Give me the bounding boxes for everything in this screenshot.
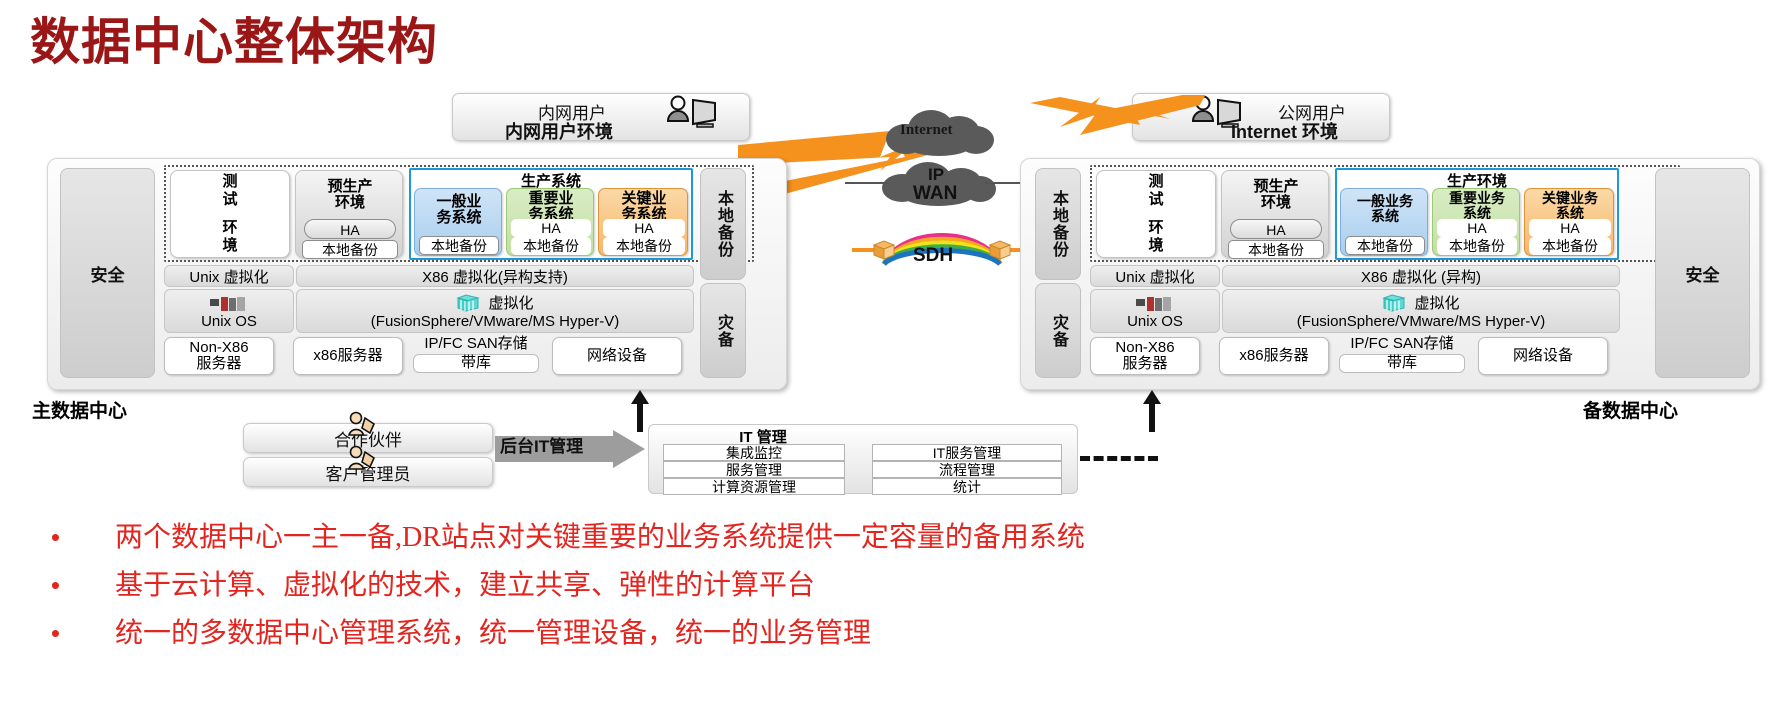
bullet-marker: • [0, 568, 60, 602]
backup-system-important-ha: HA [1437, 219, 1517, 237]
backup-virt-label: 虚拟化 [1414, 292, 1459, 313]
primary-system-critical-backup: 本地备份 [603, 237, 685, 255]
primary-system-critical: 关键业 务系统 HA 本地备份 [598, 188, 688, 256]
backup-system-critical-label-1: 关键业务 [1525, 191, 1615, 206]
primary-hw-storage-line2: 带库 [413, 354, 539, 373]
backup-hw-storage-line2: 带库 [1339, 354, 1465, 373]
user-monitor-icon [663, 95, 725, 129]
management-up-arrow-left [630, 390, 650, 432]
router-icon [872, 238, 896, 262]
bullet-item: • 两个数据中心一主一备,DR站点对关键重要的业务系统提供一定容量的备用系统 [0, 520, 1785, 556]
internal-user-box: 内网用户 内网用户环境 [452, 93, 750, 141]
primary-x86-virt-bar: X86 虚拟化(异构支持) [296, 265, 694, 287]
primary-security-label: 安全 [91, 261, 125, 286]
primary-system-critical-ha: HA [603, 219, 685, 237]
backup-system-critical: 关键业务 系统 HA 本地备份 [1524, 188, 1614, 256]
ipwan-cloud-label-1: IP [928, 165, 944, 185]
bullet-marker: • [0, 616, 60, 650]
primary-system-general-label-1: 一般业 [415, 194, 503, 210]
backup-system-critical-backup: 本地备份 [1529, 237, 1611, 255]
it-management-item-service: 服务管理 [663, 461, 845, 478]
primary-virt-label: 虚拟化 [488, 292, 533, 313]
primary-test-env-line4: 境 [222, 237, 237, 255]
primary-system-important-ha: HA [511, 219, 591, 237]
it-process-management-item: 流程管理 [872, 461, 1062, 478]
primary-hw-network: 网络设备 [552, 337, 682, 375]
management-dashed-link [1080, 456, 1158, 461]
bullet-list: • 两个数据中心一主一备,DR站点对关键重要的业务系统提供一定容量的备用系统 •… [0, 520, 1785, 664]
primary-hw-x86: x86服务器 [293, 337, 403, 375]
backup-hw-storage: IP/FC SAN存储 带库 [1339, 332, 1465, 376]
backup-virt-box: 虚拟化 (FusionSphere/VMware/MS Hyper-V) [1222, 289, 1620, 333]
primary-hw-nonx86-line2: 服务器 [189, 356, 248, 373]
primary-local-backup-label: 本地备份 [711, 190, 735, 258]
primary-unix-os-label: Unix OS [201, 313, 257, 330]
primary-hw-storage: IP/FC SAN存储 带库 [413, 332, 539, 376]
primary-preprod-backup: 本地备份 [302, 240, 398, 259]
backup-virt-vendors: (FusionSphere/VMware/MS Hyper-V) [1297, 313, 1545, 330]
backup-hw-x86: x86服务器 [1219, 337, 1329, 375]
backup-system-important-label-1: 重要业务 [1433, 191, 1521, 206]
backup-preprod-title-1: 预生产 [1222, 179, 1330, 195]
management-up-arrow-right [1142, 390, 1162, 432]
primary-hw-nonx86-line1: Non-X86 [189, 340, 248, 357]
primary-system-important: 重要业 务系统 HA 本地备份 [506, 188, 594, 256]
backup-unix-os-label: Unix OS [1127, 313, 1183, 330]
primary-test-env-line1: 测 [222, 173, 237, 191]
server-stack-icon [1135, 295, 1175, 313]
vm-cube-icon [1382, 293, 1406, 313]
backup-system-general: 一般业务 系统 本地备份 [1340, 188, 1428, 256]
primary-system-important-label-1: 重要业 [507, 191, 595, 207]
primary-unix-os-box: Unix OS [164, 289, 294, 333]
primary-test-env-line3: 环 [222, 219, 237, 237]
backup-local-backup-label: 本地备份 [1046, 190, 1070, 258]
primary-hw-nonx86: Non-X86 服务器 [164, 337, 274, 375]
bullet-marker: • [0, 520, 60, 554]
bullet-text: 基于云计算、虚拟化的技术，建立共享、弹性的计算平台 [115, 568, 815, 604]
primary-dc-caption: 主数据中心 [32, 396, 127, 423]
user-hand-icon [345, 445, 381, 475]
backup-system-important-backup: 本地备份 [1437, 237, 1517, 255]
backup-security-column: 安全 [1655, 168, 1750, 378]
backup-security-label: 安全 [1686, 261, 1720, 286]
bullet-item: • 基于云计算、虚拟化的技术，建立共享、弹性的计算平台 [0, 568, 1785, 604]
primary-system-critical-label-1: 关键业 [599, 191, 689, 207]
backup-dr-column: 灾备 [1035, 283, 1081, 378]
backup-test-env-line2: 试 [1148, 191, 1163, 209]
backup-test-env-line3: 环 [1148, 219, 1163, 237]
primary-preprod-env: 预生产 环境 HA 本地备份 [295, 170, 403, 258]
ipwan-left-line [845, 182, 889, 184]
public-user-env-label: Internet 环境 [1231, 118, 1338, 144]
primary-preprod-ha: HA [304, 219, 396, 239]
primary-local-backup-column: 本地备份 [700, 168, 746, 280]
backup-system-general-backup: 本地备份 [1345, 236, 1425, 255]
primary-preprod-title-1: 预生产 [296, 179, 404, 195]
backup-test-env-line4: 境 [1148, 237, 1163, 255]
it-management-item-monitoring: 集成监控 [663, 444, 845, 461]
bullet-text: 两个数据中心一主一备,DR站点对关键重要的业务系统提供一定容量的备用系统 [115, 520, 1085, 556]
backup-unix-virt-bar: Unix 虚拟化 [1090, 265, 1220, 287]
backup-system-critical-ha: HA [1529, 219, 1611, 237]
ipwan-cloud-label-2: WAN [913, 183, 957, 205]
it-statistics-item: 统计 [872, 478, 1062, 495]
router-icon [988, 238, 1012, 262]
it-management-item-compute: 计算资源管理 [663, 478, 845, 495]
backup-unix-os-box: Unix OS [1090, 289, 1220, 333]
backup-dc-caption: 备数据中心 [1583, 396, 1678, 423]
backup-hw-nonx86: Non-X86 服务器 [1090, 337, 1200, 375]
backend-management-label: 后台IT管理 [500, 432, 583, 457]
server-stack-icon [209, 295, 249, 313]
primary-virt-box: 虚拟化 (FusionSphere/VMware/MS Hyper-V) [296, 289, 694, 333]
primary-unix-virt-bar: Unix 虚拟化 [164, 265, 294, 287]
backup-system-general-label-1: 一般业务 [1341, 194, 1429, 209]
primary-preprod-title-2: 环境 [296, 195, 404, 211]
backup-x86-virt-bar: X86 虚拟化 (异构) [1222, 265, 1620, 287]
bullet-item: • 统一的多数据中心管理系统，统一管理设备，统一的业务管理 [0, 616, 1785, 652]
primary-test-env: 测 试 环 境 [170, 170, 290, 258]
internet-cloud: Internet [880, 108, 1000, 156]
backup-hw-storage-line1: IP/FC SAN存储 [1339, 336, 1465, 353]
backup-hw-nonx86-line2: 服务器 [1115, 356, 1174, 373]
user-hand-icon [345, 411, 381, 441]
backup-preprod-backup: 本地备份 [1228, 240, 1324, 259]
backup-preprod-env: 预生产 环境 HA 本地备份 [1221, 170, 1329, 258]
primary-system-important-backup: 本地备份 [511, 237, 591, 255]
primary-dr-column: 灾备 [700, 283, 746, 378]
primary-hw-storage-line1: IP/FC SAN存储 [413, 336, 539, 353]
bullet-text: 统一的多数据中心管理系统，统一管理设备，统一的业务管理 [115, 616, 871, 652]
backup-preprod-title-2: 环境 [1222, 195, 1330, 211]
internal-user-env-label: 内网用户环境 [505, 118, 613, 144]
page-title: 数据中心整体架构 [30, 2, 438, 74]
primary-system-general-backup: 本地备份 [419, 236, 499, 255]
ipwan-cloud: IP WAN [880, 158, 1000, 210]
primary-dr-label: 灾备 [711, 314, 735, 348]
backup-test-env: 测 试 环 境 [1096, 170, 1216, 258]
backup-hw-nonx86-line1: Non-X86 [1115, 340, 1174, 357]
backup-test-env-line1: 测 [1148, 173, 1163, 191]
backup-preprod-ha: HA [1230, 219, 1322, 239]
primary-virt-vendors: (FusionSphere/VMware/MS Hyper-V) [371, 313, 619, 330]
backup-system-important: 重要业务 系统 HA 本地备份 [1432, 188, 1520, 256]
primary-security-column: 安全 [60, 168, 155, 378]
primary-test-env-line2: 试 [222, 191, 237, 209]
backup-local-backup-column: 本地备份 [1035, 168, 1081, 280]
primary-system-general: 一般业 务系统 本地备份 [414, 188, 502, 256]
vm-cube-icon [456, 293, 480, 313]
sdh-label: SDH [913, 245, 953, 267]
backup-system-general-label-2: 系统 [1341, 209, 1429, 224]
backup-dr-label: 灾备 [1046, 314, 1070, 348]
it-service-management-item: IT服务管理 [872, 444, 1062, 461]
internet-cloud-label: Internet [900, 122, 953, 139]
primary-system-general-label-2: 务系统 [415, 210, 503, 226]
backup-hw-network: 网络设备 [1478, 337, 1608, 375]
